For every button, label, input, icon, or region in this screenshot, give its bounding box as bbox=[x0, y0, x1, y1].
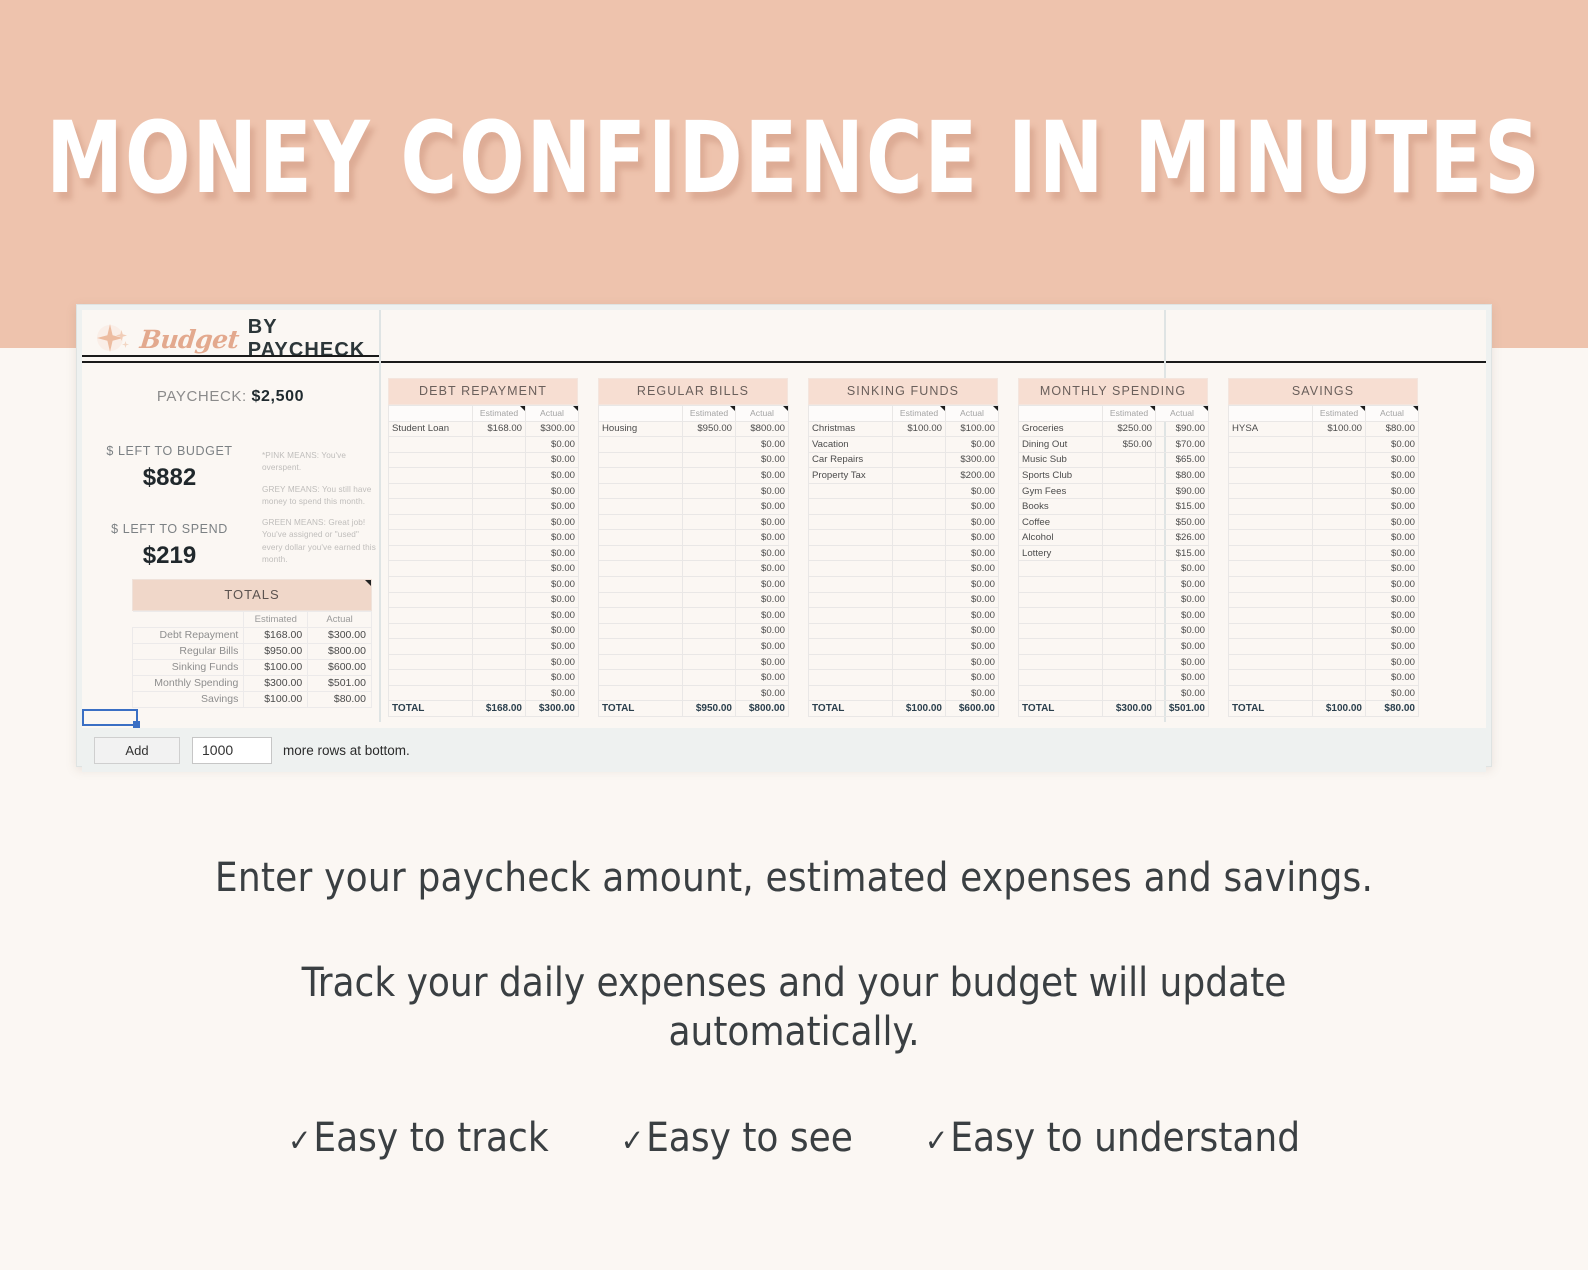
table-row[interactable]: Vacation$0.00 bbox=[809, 437, 999, 453]
category-col-actual[interactable]: Actual bbox=[1156, 406, 1209, 422]
row-estimated[interactable]: $250.00 bbox=[1103, 421, 1156, 437]
row-actual[interactable]: $0.00 bbox=[1156, 685, 1209, 701]
row-estimated[interactable] bbox=[473, 452, 526, 468]
table-row[interactable]: Housing$950.00$800.00 bbox=[599, 421, 789, 437]
table-row[interactable]: $0.00 bbox=[1019, 685, 1209, 701]
row-actual[interactable]: $0.00 bbox=[946, 437, 999, 453]
category-col-estimated[interactable]: Estimated bbox=[1103, 406, 1156, 422]
row-actual[interactable]: $0.00 bbox=[946, 639, 999, 655]
row-actual[interactable]: $0.00 bbox=[526, 623, 579, 639]
category-col-estimated[interactable]: Estimated bbox=[893, 406, 946, 422]
row-name[interactable] bbox=[599, 608, 683, 624]
table-row[interactable]: $0.00 bbox=[809, 592, 999, 608]
row-actual[interactable]: $0.00 bbox=[736, 452, 789, 468]
row-estimated[interactable] bbox=[1103, 530, 1156, 546]
row-name[interactable] bbox=[809, 670, 893, 686]
row-name[interactable] bbox=[389, 468, 473, 484]
row-estimated[interactable] bbox=[893, 545, 946, 561]
row-estimated[interactable] bbox=[683, 545, 736, 561]
row-actual[interactable]: $0.00 bbox=[736, 499, 789, 515]
row-name[interactable]: Music Sub bbox=[1019, 452, 1103, 468]
row-actual[interactable]: $0.00 bbox=[736, 437, 789, 453]
row-actual[interactable]: $0.00 bbox=[1366, 545, 1419, 561]
table-row[interactable]: $0.00 bbox=[599, 437, 789, 453]
row-estimated[interactable] bbox=[1103, 639, 1156, 655]
row-estimated[interactable] bbox=[1313, 530, 1366, 546]
row-estimated[interactable] bbox=[893, 592, 946, 608]
table-row[interactable]: Books$15.00 bbox=[1019, 499, 1209, 515]
row-name[interactable] bbox=[1019, 623, 1103, 639]
row-estimated[interactable] bbox=[473, 592, 526, 608]
table-row[interactable]: Dining Out$50.00$70.00 bbox=[1019, 437, 1209, 453]
table-row[interactable]: $0.00 bbox=[389, 437, 579, 453]
row-name[interactable]: Groceries bbox=[1019, 421, 1103, 437]
row-estimated[interactable] bbox=[893, 577, 946, 593]
table-row[interactable]: $0.00 bbox=[1019, 561, 1209, 577]
row-actual[interactable]: $0.00 bbox=[946, 670, 999, 686]
row-actual[interactable]: $0.00 bbox=[526, 670, 579, 686]
table-row[interactable]: $0.00 bbox=[599, 670, 789, 686]
table-row[interactable]: $0.00 bbox=[389, 561, 579, 577]
row-estimated[interactable] bbox=[1103, 452, 1156, 468]
row-name[interactable]: Vacation bbox=[809, 437, 893, 453]
row-estimated[interactable] bbox=[1313, 545, 1366, 561]
row-estimated[interactable] bbox=[1103, 623, 1156, 639]
row-actual[interactable]: $0.00 bbox=[1366, 499, 1419, 515]
row-estimated[interactable]: $950.00 bbox=[683, 421, 736, 437]
row-estimated[interactable] bbox=[1313, 670, 1366, 686]
row-estimated[interactable] bbox=[473, 639, 526, 655]
row-actual[interactable]: $0.00 bbox=[1366, 670, 1419, 686]
row-name[interactable] bbox=[599, 561, 683, 577]
row-name[interactable] bbox=[1229, 514, 1313, 530]
row-estimated[interactable] bbox=[893, 499, 946, 515]
row-actual[interactable]: $0.00 bbox=[1366, 514, 1419, 530]
row-estimated[interactable] bbox=[1103, 685, 1156, 701]
table-row[interactable]: $0.00 bbox=[809, 483, 999, 499]
row-name[interactable] bbox=[389, 685, 473, 701]
table-row[interactable]: $0.00 bbox=[389, 623, 579, 639]
row-estimated[interactable] bbox=[683, 623, 736, 639]
table-row[interactable]: $0.00 bbox=[1229, 577, 1419, 593]
row-estimated[interactable] bbox=[893, 483, 946, 499]
row-name[interactable] bbox=[599, 623, 683, 639]
row-estimated[interactable] bbox=[893, 608, 946, 624]
table-row[interactable]: $0.00 bbox=[599, 499, 789, 515]
row-actual[interactable]: $100.00 bbox=[946, 421, 999, 437]
row-name[interactable] bbox=[1229, 608, 1313, 624]
row-estimated[interactable] bbox=[1103, 654, 1156, 670]
row-estimated[interactable] bbox=[893, 452, 946, 468]
row-name[interactable] bbox=[1229, 577, 1313, 593]
table-row[interactable]: $0.00 bbox=[809, 545, 999, 561]
row-actual[interactable]: $300.00 bbox=[946, 452, 999, 468]
row-actual[interactable]: $0.00 bbox=[736, 514, 789, 530]
table-row[interactable]: $0.00 bbox=[1229, 499, 1419, 515]
row-estimated[interactable] bbox=[683, 514, 736, 530]
row-estimated[interactable] bbox=[893, 514, 946, 530]
row-name[interactable] bbox=[599, 577, 683, 593]
table-row[interactable]: $0.00 bbox=[1229, 685, 1419, 701]
row-name[interactable]: Car Repairs bbox=[809, 452, 893, 468]
row-name[interactable] bbox=[809, 639, 893, 655]
row-name[interactable] bbox=[1229, 561, 1313, 577]
row-actual[interactable]: $50.00 bbox=[1156, 514, 1209, 530]
row-name[interactable] bbox=[389, 654, 473, 670]
row-actual[interactable]: $0.00 bbox=[736, 608, 789, 624]
table-row[interactable]: $0.00 bbox=[1229, 639, 1419, 655]
row-estimated[interactable] bbox=[683, 639, 736, 655]
row-estimated[interactable] bbox=[473, 514, 526, 530]
row-actual[interactable]: $0.00 bbox=[1366, 483, 1419, 499]
row-estimated[interactable] bbox=[473, 670, 526, 686]
row-actual[interactable]: $0.00 bbox=[526, 499, 579, 515]
row-estimated[interactable] bbox=[1313, 685, 1366, 701]
table-row[interactable]: $0.00 bbox=[1229, 483, 1419, 499]
table-row[interactable]: $0.00 bbox=[1229, 452, 1419, 468]
table-row[interactable]: $0.00 bbox=[389, 592, 579, 608]
table-row[interactable]: $0.00 bbox=[1019, 654, 1209, 670]
row-actual[interactable]: $0.00 bbox=[1156, 592, 1209, 608]
table-row[interactable]: $0.00 bbox=[389, 530, 579, 546]
row-estimated[interactable] bbox=[893, 685, 946, 701]
row-name[interactable] bbox=[1229, 670, 1313, 686]
table-row[interactable]: $0.00 bbox=[1229, 623, 1419, 639]
row-actual[interactable]: $0.00 bbox=[736, 483, 789, 499]
row-estimated[interactable] bbox=[1313, 592, 1366, 608]
row-name[interactable] bbox=[1019, 639, 1103, 655]
row-name[interactable] bbox=[809, 530, 893, 546]
row-actual[interactable]: $0.00 bbox=[946, 592, 999, 608]
row-actual[interactable]: $65.00 bbox=[1156, 452, 1209, 468]
row-name[interactable] bbox=[1229, 499, 1313, 515]
row-estimated[interactable] bbox=[683, 437, 736, 453]
table-row[interactable]: $0.00 bbox=[809, 654, 999, 670]
row-estimated[interactable] bbox=[1103, 577, 1156, 593]
row-name[interactable]: Christmas bbox=[809, 421, 893, 437]
row-name[interactable] bbox=[389, 514, 473, 530]
row-actual[interactable]: $0.00 bbox=[1156, 639, 1209, 655]
row-name[interactable] bbox=[389, 592, 473, 608]
table-row[interactable]: $0.00 bbox=[389, 545, 579, 561]
row-name[interactable] bbox=[1229, 592, 1313, 608]
table-row[interactable]: $0.00 bbox=[599, 592, 789, 608]
row-name[interactable] bbox=[1019, 654, 1103, 670]
row-actual[interactable]: $0.00 bbox=[1366, 577, 1419, 593]
row-name[interactable] bbox=[1229, 452, 1313, 468]
table-row[interactable]: $0.00 bbox=[599, 530, 789, 546]
row-estimated[interactable] bbox=[683, 468, 736, 484]
row-name[interactable]: Dining Out bbox=[1019, 437, 1103, 453]
row-name[interactable] bbox=[389, 623, 473, 639]
row-name[interactable]: Alcohol bbox=[1019, 530, 1103, 546]
row-estimated[interactable] bbox=[683, 577, 736, 593]
table-row[interactable]: $0.00 bbox=[1229, 437, 1419, 453]
row-actual[interactable]: $80.00 bbox=[1156, 468, 1209, 484]
row-estimated[interactable] bbox=[683, 561, 736, 577]
table-row[interactable]: $0.00 bbox=[599, 577, 789, 593]
table-row[interactable]: $0.00 bbox=[389, 452, 579, 468]
row-actual[interactable]: $0.00 bbox=[1366, 639, 1419, 655]
table-row[interactable]: $0.00 bbox=[1229, 545, 1419, 561]
row-name[interactable] bbox=[599, 670, 683, 686]
row-estimated[interactable] bbox=[473, 623, 526, 639]
table-row[interactable]: Alcohol$26.00 bbox=[1019, 530, 1209, 546]
table-row[interactable]: $0.00 bbox=[1229, 654, 1419, 670]
table-row[interactable]: Car Repairs$300.00 bbox=[809, 452, 999, 468]
row-actual[interactable]: $0.00 bbox=[946, 577, 999, 593]
row-estimated[interactable] bbox=[1103, 545, 1156, 561]
row-estimated[interactable] bbox=[473, 483, 526, 499]
row-name[interactable] bbox=[389, 577, 473, 593]
row-estimated[interactable] bbox=[1313, 654, 1366, 670]
table-row[interactable]: $0.00 bbox=[389, 685, 579, 701]
row-name[interactable]: Books bbox=[1019, 499, 1103, 515]
row-name[interactable]: Student Loan bbox=[389, 421, 473, 437]
row-estimated[interactable] bbox=[473, 545, 526, 561]
row-actual[interactable]: $0.00 bbox=[946, 623, 999, 639]
row-actual[interactable]: $15.00 bbox=[1156, 499, 1209, 515]
row-estimated[interactable] bbox=[1313, 514, 1366, 530]
table-row[interactable]: $0.00 bbox=[599, 483, 789, 499]
row-actual[interactable]: $0.00 bbox=[1366, 468, 1419, 484]
row-name[interactable] bbox=[1229, 623, 1313, 639]
table-row[interactable]: $0.00 bbox=[809, 639, 999, 655]
table-row[interactable]: $0.00 bbox=[1019, 608, 1209, 624]
selected-cell[interactable] bbox=[82, 709, 138, 726]
table-row[interactable]: $0.00 bbox=[599, 654, 789, 670]
row-estimated[interactable] bbox=[473, 561, 526, 577]
row-estimated[interactable] bbox=[893, 670, 946, 686]
row-estimated[interactable] bbox=[893, 654, 946, 670]
row-name[interactable] bbox=[599, 639, 683, 655]
row-name[interactable] bbox=[809, 685, 893, 701]
row-actual[interactable]: $0.00 bbox=[1156, 561, 1209, 577]
row-actual[interactable]: $0.00 bbox=[1366, 623, 1419, 639]
row-actual[interactable]: $0.00 bbox=[736, 545, 789, 561]
table-row[interactable]: $0.00 bbox=[599, 452, 789, 468]
row-name[interactable] bbox=[1229, 483, 1313, 499]
row-actual[interactable]: $0.00 bbox=[1156, 654, 1209, 670]
table-row[interactable]: $0.00 bbox=[1229, 592, 1419, 608]
table-row[interactable]: $0.00 bbox=[809, 623, 999, 639]
row-name[interactable] bbox=[809, 592, 893, 608]
row-name[interactable] bbox=[599, 530, 683, 546]
row-estimated[interactable] bbox=[473, 499, 526, 515]
row-estimated[interactable] bbox=[1313, 437, 1366, 453]
row-actual[interactable]: $0.00 bbox=[526, 468, 579, 484]
paycheck-value[interactable]: $2,500 bbox=[252, 388, 305, 405]
row-name[interactable] bbox=[1229, 530, 1313, 546]
table-row[interactable]: $0.00 bbox=[389, 654, 579, 670]
row-name[interactable] bbox=[599, 437, 683, 453]
row-actual[interactable]: $0.00 bbox=[526, 592, 579, 608]
row-name[interactable] bbox=[1229, 654, 1313, 670]
row-actual[interactable]: $0.00 bbox=[736, 670, 789, 686]
row-actual[interactable]: $0.00 bbox=[736, 654, 789, 670]
table-row[interactable]: $0.00 bbox=[599, 514, 789, 530]
row-name[interactable] bbox=[1019, 577, 1103, 593]
row-name[interactable] bbox=[389, 483, 473, 499]
row-name[interactable] bbox=[1229, 545, 1313, 561]
row-name[interactable]: Property Tax bbox=[809, 468, 893, 484]
row-estimated[interactable]: $100.00 bbox=[893, 421, 946, 437]
row-actual[interactable]: $0.00 bbox=[526, 437, 579, 453]
row-actual[interactable]: $0.00 bbox=[1156, 670, 1209, 686]
table-row[interactable]: $0.00 bbox=[1229, 608, 1419, 624]
row-actual[interactable]: $0.00 bbox=[1366, 608, 1419, 624]
row-estimated[interactable]: $168.00 bbox=[473, 421, 526, 437]
row-actual[interactable]: $0.00 bbox=[736, 577, 789, 593]
row-name[interactable] bbox=[809, 654, 893, 670]
row-name[interactable] bbox=[1229, 468, 1313, 484]
row-estimated[interactable] bbox=[1313, 561, 1366, 577]
category-col-actual[interactable]: Actual bbox=[1366, 406, 1419, 422]
table-row[interactable]: $0.00 bbox=[1019, 639, 1209, 655]
row-name[interactable] bbox=[809, 499, 893, 515]
table-row[interactable]: Groceries$250.00$90.00 bbox=[1019, 421, 1209, 437]
row-name[interactable] bbox=[599, 514, 683, 530]
row-estimated[interactable] bbox=[473, 654, 526, 670]
row-actual[interactable]: $70.00 bbox=[1156, 437, 1209, 453]
row-estimated[interactable] bbox=[893, 623, 946, 639]
row-estimated[interactable] bbox=[893, 468, 946, 484]
row-estimated[interactable] bbox=[1103, 561, 1156, 577]
row-estimated[interactable] bbox=[683, 499, 736, 515]
row-estimated[interactable] bbox=[683, 654, 736, 670]
row-actual[interactable]: $0.00 bbox=[736, 561, 789, 577]
table-row[interactable]: $0.00 bbox=[1229, 530, 1419, 546]
category-col-estimated[interactable]: Estimated bbox=[683, 406, 736, 422]
category-col-actual[interactable]: Actual bbox=[736, 406, 789, 422]
row-actual[interactable]: $0.00 bbox=[946, 561, 999, 577]
table-row[interactable]: $0.00 bbox=[389, 639, 579, 655]
row-estimated[interactable] bbox=[683, 452, 736, 468]
row-name[interactable]: Housing bbox=[599, 421, 683, 437]
row-name[interactable] bbox=[1019, 561, 1103, 577]
row-estimated[interactable] bbox=[1103, 608, 1156, 624]
row-name[interactable] bbox=[809, 483, 893, 499]
table-row[interactable]: $0.00 bbox=[809, 561, 999, 577]
row-actual[interactable]: $0.00 bbox=[526, 545, 579, 561]
table-row[interactable]: $0.00 bbox=[599, 639, 789, 655]
row-actual[interactable]: $0.00 bbox=[946, 654, 999, 670]
row-actual[interactable]: $800.00 bbox=[736, 421, 789, 437]
table-row[interactable]: $0.00 bbox=[809, 577, 999, 593]
table-row[interactable]: $0.00 bbox=[809, 499, 999, 515]
row-estimated[interactable] bbox=[1313, 468, 1366, 484]
table-row[interactable]: $0.00 bbox=[599, 561, 789, 577]
row-name[interactable] bbox=[389, 639, 473, 655]
row-estimated[interactable] bbox=[473, 437, 526, 453]
row-estimated[interactable] bbox=[473, 608, 526, 624]
table-row[interactable]: $0.00 bbox=[1019, 592, 1209, 608]
row-actual[interactable]: $15.00 bbox=[1156, 545, 1209, 561]
row-name[interactable] bbox=[809, 608, 893, 624]
row-estimated[interactable] bbox=[683, 592, 736, 608]
row-name[interactable] bbox=[1229, 437, 1313, 453]
row-estimated[interactable]: $100.00 bbox=[1313, 421, 1366, 437]
category-col-estimated[interactable]: Estimated bbox=[1313, 406, 1366, 422]
row-actual[interactable]: $0.00 bbox=[736, 530, 789, 546]
row-actual[interactable]: $0.00 bbox=[526, 577, 579, 593]
row-actual[interactable]: $0.00 bbox=[526, 639, 579, 655]
table-row[interactable]: Sports Club$80.00 bbox=[1019, 468, 1209, 484]
row-actual[interactable]: $0.00 bbox=[1366, 530, 1419, 546]
table-row[interactable]: $0.00 bbox=[389, 499, 579, 515]
category-col-actual[interactable]: Actual bbox=[526, 406, 579, 422]
row-actual[interactable]: $0.00 bbox=[526, 530, 579, 546]
row-estimated[interactable] bbox=[1103, 499, 1156, 515]
row-actual[interactable]: $90.00 bbox=[1156, 483, 1209, 499]
row-actual[interactable]: $0.00 bbox=[946, 514, 999, 530]
row-actual[interactable]: $0.00 bbox=[526, 452, 579, 468]
row-actual[interactable]: $0.00 bbox=[526, 483, 579, 499]
table-row[interactable]: $0.00 bbox=[809, 670, 999, 686]
row-name[interactable] bbox=[1019, 608, 1103, 624]
row-estimated[interactable] bbox=[683, 483, 736, 499]
table-row[interactable]: $0.00 bbox=[809, 685, 999, 701]
table-row[interactable]: $0.00 bbox=[599, 545, 789, 561]
category-col-estimated[interactable]: Estimated bbox=[473, 406, 526, 422]
row-name[interactable] bbox=[599, 483, 683, 499]
row-name[interactable] bbox=[599, 685, 683, 701]
row-name[interactable] bbox=[389, 670, 473, 686]
row-actual[interactable]: $200.00 bbox=[946, 468, 999, 484]
table-row[interactable]: Coffee$50.00 bbox=[1019, 514, 1209, 530]
row-actual[interactable]: $300.00 bbox=[526, 421, 579, 437]
table-row[interactable]: $0.00 bbox=[809, 530, 999, 546]
row-name[interactable] bbox=[389, 530, 473, 546]
table-row[interactable]: $0.00 bbox=[599, 608, 789, 624]
row-estimated[interactable] bbox=[1103, 592, 1156, 608]
row-actual[interactable]: $26.00 bbox=[1156, 530, 1209, 546]
row-actual[interactable]: $0.00 bbox=[1156, 577, 1209, 593]
table-row[interactable]: $0.00 bbox=[1019, 670, 1209, 686]
table-row[interactable]: Gym Fees$90.00 bbox=[1019, 483, 1209, 499]
row-name[interactable] bbox=[599, 452, 683, 468]
table-row[interactable]: $0.00 bbox=[809, 514, 999, 530]
table-row[interactable]: $0.00 bbox=[1229, 514, 1419, 530]
table-row[interactable]: Music Sub$65.00 bbox=[1019, 452, 1209, 468]
row-name[interactable] bbox=[809, 545, 893, 561]
row-actual[interactable]: $0.00 bbox=[946, 685, 999, 701]
table-row[interactable]: Christmas$100.00$100.00 bbox=[809, 421, 999, 437]
row-actual[interactable]: $0.00 bbox=[526, 608, 579, 624]
table-row[interactable]: Property Tax$200.00 bbox=[809, 468, 999, 484]
row-actual[interactable]: $0.00 bbox=[1366, 437, 1419, 453]
row-estimated[interactable] bbox=[1313, 608, 1366, 624]
row-actual[interactable]: $0.00 bbox=[946, 530, 999, 546]
row-name[interactable] bbox=[1229, 639, 1313, 655]
table-row[interactable]: Lottery$15.00 bbox=[1019, 545, 1209, 561]
row-estimated[interactable] bbox=[683, 608, 736, 624]
row-estimated[interactable] bbox=[1103, 514, 1156, 530]
row-estimated[interactable] bbox=[1313, 499, 1366, 515]
table-row[interactable]: $0.00 bbox=[599, 468, 789, 484]
table-row[interactable]: $0.00 bbox=[389, 608, 579, 624]
row-estimated[interactable] bbox=[473, 685, 526, 701]
row-actual[interactable]: $0.00 bbox=[736, 639, 789, 655]
row-estimated[interactable] bbox=[1103, 670, 1156, 686]
row-name[interactable]: HYSA bbox=[1229, 421, 1313, 437]
row-name[interactable] bbox=[389, 499, 473, 515]
row-actual[interactable]: $0.00 bbox=[1156, 623, 1209, 639]
row-name[interactable] bbox=[809, 514, 893, 530]
row-name[interactable] bbox=[599, 545, 683, 561]
row-estimated[interactable] bbox=[893, 561, 946, 577]
row-estimated[interactable] bbox=[893, 437, 946, 453]
